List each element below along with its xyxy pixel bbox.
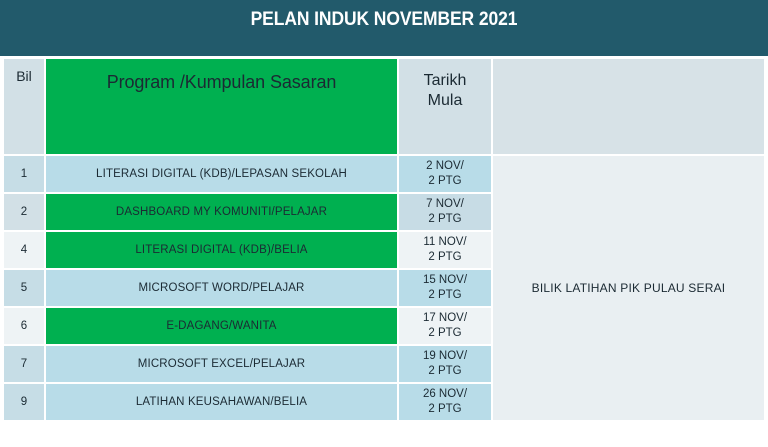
slide-root: PELAN INDUK NOVEMBER 2021 Bil Program /K… — [0, 0, 768, 447]
column-header-program: Program /Kumpulan Sasaran — [45, 58, 398, 155]
cell-program: LITERASI DIGITAL (KDB)/BELIA — [45, 231, 398, 269]
cell-bil: 2 — [3, 193, 45, 231]
cell-tarikh: 11 NOV/ 2 PTG — [398, 231, 492, 269]
cell-tarikh-line1: 11 NOV/ — [399, 235, 491, 250]
column-header-tarikh-line2: Mula — [399, 91, 491, 111]
cell-program: MICROSOFT WORD/PELAJAR — [45, 269, 398, 307]
table-header-row: Bil Program /Kumpulan Sasaran Tarikh Mul… — [3, 58, 765, 155]
cell-venue-merged: BILIK LATIHAN PIK PULAU SERAI — [492, 155, 765, 421]
schedule-table-wrapper: Bil Program /Kumpulan Sasaran Tarikh Mul… — [3, 58, 765, 443]
cell-bil: 4 — [3, 231, 45, 269]
schedule-table: Bil Program /Kumpulan Sasaran Tarikh Mul… — [3, 58, 765, 421]
cell-tarikh: 17 NOV/ 2 PTG — [398, 307, 492, 345]
table-row: 1 LITERASI DIGITAL (KDB)/LEPASAN SEKOLAH… — [3, 155, 765, 193]
title-banner: PELAN INDUK NOVEMBER 2021 — [0, 0, 768, 56]
cell-tarikh: 7 NOV/ 2 PTG — [398, 193, 492, 231]
cell-tarikh-line1: 7 NOV/ — [399, 197, 491, 212]
cell-program: DASHBOARD MY KOMUNITI/PELAJAR — [45, 193, 398, 231]
cell-tarikh-line2: 2 PTG — [399, 212, 491, 227]
cell-tarikh: 2 NOV/ 2 PTG — [398, 155, 492, 193]
cell-tarikh-line2: 2 PTG — [399, 250, 491, 265]
column-header-tarikh-line1: Tarikh — [399, 71, 491, 91]
cell-bil: 5 — [3, 269, 45, 307]
cell-bil: 1 — [3, 155, 45, 193]
cell-tarikh-line2: 2 PTG — [399, 326, 491, 341]
cell-tarikh: 15 NOV/ 2 PTG — [398, 269, 492, 307]
cell-tarikh-line2: 2 PTG — [399, 288, 491, 303]
cell-tarikh-line1: 15 NOV/ — [399, 273, 491, 288]
cell-program: LATIHAN KEUSAHAWAN/BELIA — [45, 383, 398, 421]
column-header-bil: Bil — [3, 58, 45, 155]
cell-tarikh-line1: 17 NOV/ — [399, 311, 491, 326]
cell-tarikh-line1: 26 NOV/ — [399, 387, 491, 402]
cell-bil: 6 — [3, 307, 45, 345]
column-header-tarikh-mula: Tarikh Mula — [398, 58, 492, 155]
cell-bil: 9 — [3, 383, 45, 421]
column-header-venue — [492, 58, 765, 155]
cell-tarikh: 19 NOV/ 2 PTG — [398, 345, 492, 383]
cell-tarikh-line2: 2 PTG — [399, 364, 491, 379]
cell-tarikh-line2: 2 PTG — [399, 402, 491, 417]
page-title: PELAN INDUK NOVEMBER 2021 — [251, 10, 518, 31]
cell-bil: 7 — [3, 345, 45, 383]
cell-program: LITERASI DIGITAL (KDB)/LEPASAN SEKOLAH — [45, 155, 398, 193]
cell-program: E-DAGANG/WANITA — [45, 307, 398, 345]
cell-tarikh-line1: 2 NOV/ — [399, 159, 491, 174]
cell-tarikh: 26 NOV/ 2 PTG — [398, 383, 492, 421]
cell-tarikh-line2: 2 PTG — [399, 174, 491, 189]
cell-tarikh-line1: 19 NOV/ — [399, 349, 491, 364]
cell-program: MICROSOFT EXCEL/PELAJAR — [45, 345, 398, 383]
